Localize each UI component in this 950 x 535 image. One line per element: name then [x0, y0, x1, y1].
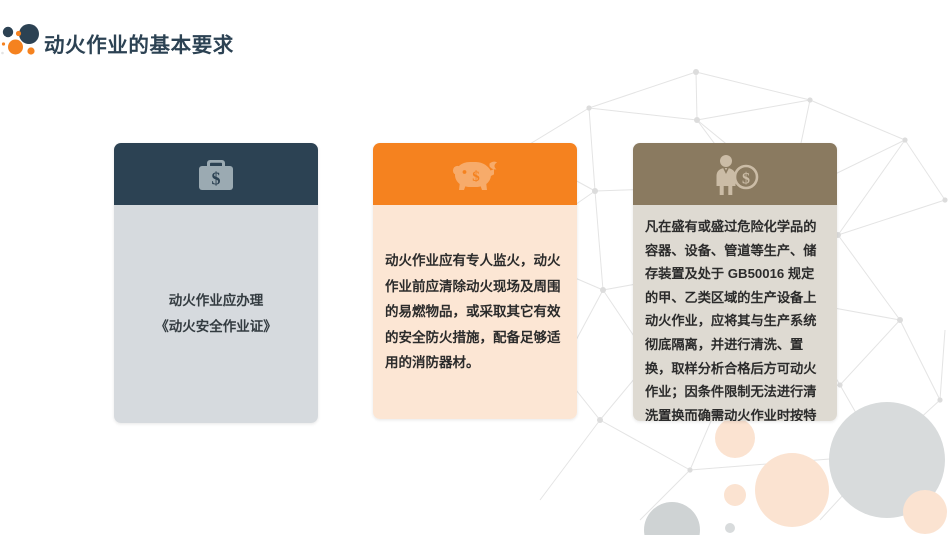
slide-header: 动火作业的基本要求 [0, 0, 950, 78]
card-2-text: 动火作业应有专人监火，动火作业前应清除动火现场及周围的易燃物品，或采取其它有效的… [373, 248, 577, 376]
briefcase-dollar-icon: $ [194, 155, 238, 193]
page-title: 动火作业的基本要求 [44, 28, 234, 58]
card-1-line-1: 动火作业应办理 [128, 288, 304, 314]
card-1-body: 动火作业应办理 《动火安全作业证》 [114, 205, 318, 423]
card-3-text: 凡在盛有或盛过危险化学品的容器、设备、管道等生产、储存装置及处于 GB50016… [633, 205, 837, 421]
slide-canvas: 动火作业的基本要求 $ 动火作业应办理 《动火安全作业证》 [0, 0, 950, 535]
info-card-3[interactable]: $ 凡在盛有或盛过危险化学品的容器、设备、管道等生产、储存装置及处于 GB500… [633, 143, 837, 421]
svg-text:$: $ [742, 171, 750, 188]
card-3-header: $ [633, 143, 837, 205]
svg-text:$: $ [212, 169, 221, 189]
card-2-header: $ [373, 143, 577, 205]
svg-text:$: $ [472, 169, 480, 185]
card-1-header: $ [114, 143, 318, 205]
dot-cluster-icon [0, 22, 46, 62]
card-1-text: 动火作业应办理 《动火安全作业证》 [114, 288, 318, 340]
card-2-body: 动火作业应有专人监火，动火作业前应清除动火现场及周围的易燃物品，或采取其它有效的… [373, 205, 577, 419]
card-3-body: 凡在盛有或盛过危险化学品的容器、设备、管道等生产、储存装置及处于 GB50016… [633, 205, 837, 421]
piggy-bank-icon: $ [450, 155, 500, 193]
businessman-coin-icon: $ [710, 153, 760, 195]
card-1-line-2: 《动火安全作业证》 [128, 314, 304, 340]
info-card-2[interactable]: $ 动火作业应有专人监火，动火作业前应清除动火现场及周围的易燃物品，或采取其它有… [373, 143, 577, 419]
info-card-1[interactable]: $ 动火作业应办理 《动火安全作业证》 [114, 143, 318, 423]
